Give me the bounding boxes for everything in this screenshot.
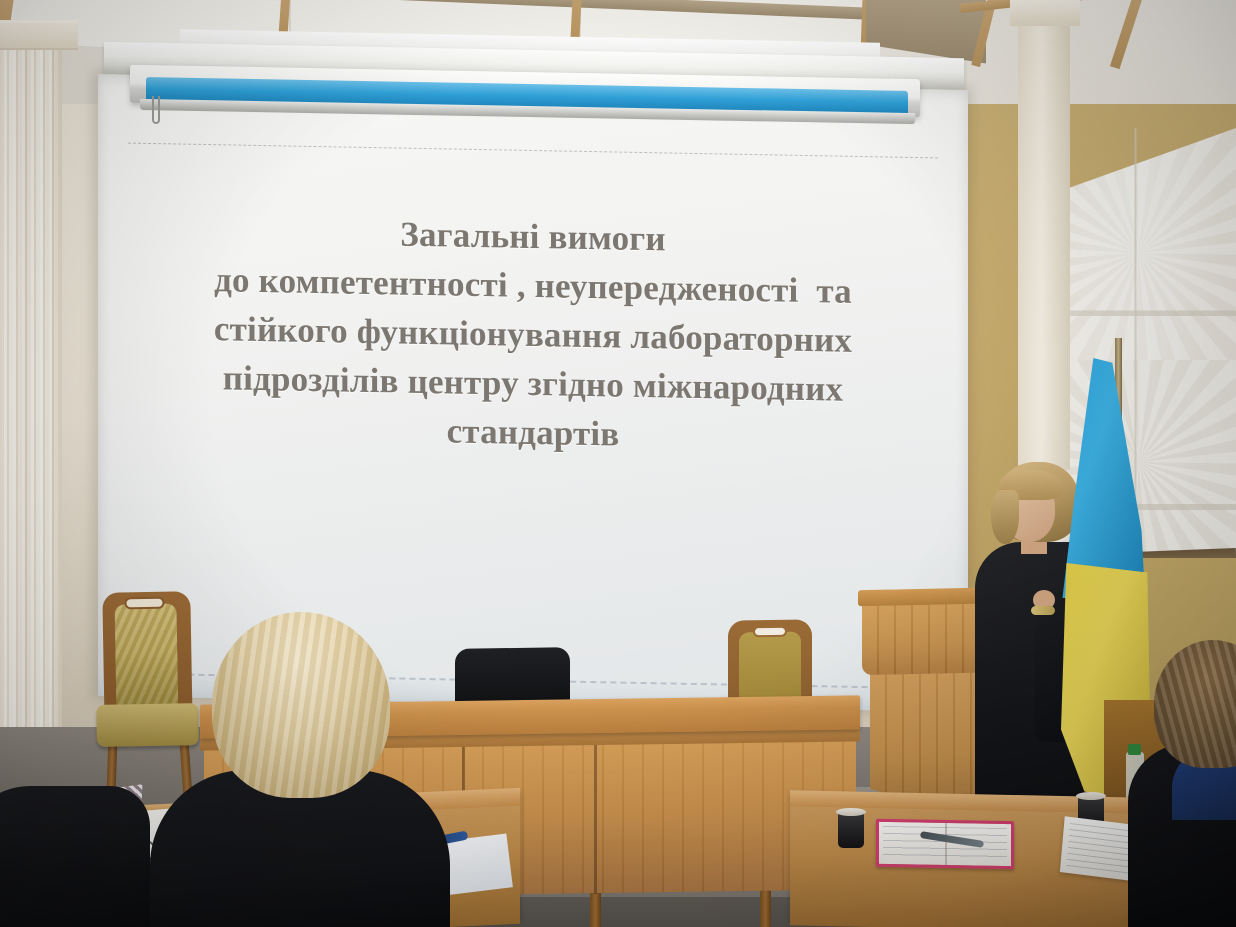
cup-rim [1076, 792, 1106, 800]
ceiling-wood-trim-horizontal [960, 0, 1236, 13]
audience-person-front [150, 612, 450, 927]
flag-blue-field [1059, 358, 1145, 598]
slide-line-5: стандартів [447, 406, 620, 458]
audience-front-hair [212, 612, 390, 798]
speaker-hair-side [991, 490, 1019, 544]
ceiling-wood-trim [1110, 0, 1144, 69]
pilaster-capital-left [0, 20, 78, 50]
roller-blind-hook [152, 96, 160, 124]
pilaster-capital-right [1010, 0, 1080, 26]
table-panel-seam [594, 744, 597, 894]
audience-right-hair [1154, 640, 1236, 768]
paper-cup-left [838, 812, 864, 848]
audience-person-far-left [0, 786, 150, 927]
conference-hall-photo: Загальні вимоги до компетентності , неуп… [0, 0, 1236, 927]
speaker-bracelet [1031, 606, 1055, 615]
audience-person-right [1128, 640, 1236, 927]
slide-line-4: підрозділів центру згідно міжнародних [223, 353, 843, 413]
open-notebook [876, 819, 1014, 869]
cup-rim [836, 808, 866, 816]
chair-handle-slot [124, 597, 164, 610]
notebook-spine [945, 823, 947, 865]
slide-line-1: Загальні вимоги [400, 210, 665, 264]
pilaster-column-left [0, 38, 62, 738]
chair-handle-slot [753, 626, 787, 637]
